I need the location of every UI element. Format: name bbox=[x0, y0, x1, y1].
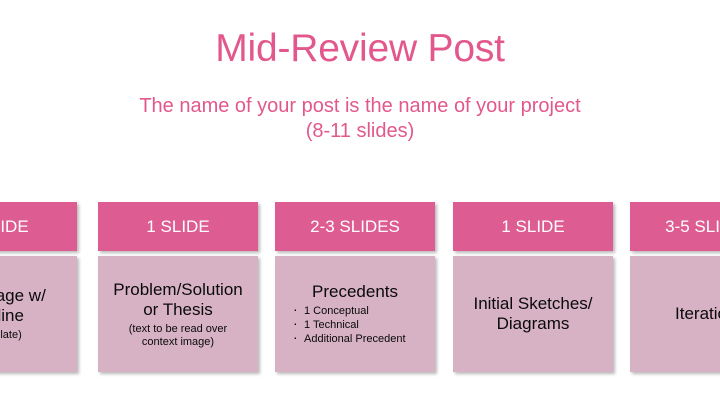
slide-card-heading: Initial Sketches/ Diagrams bbox=[459, 294, 607, 334]
slide-card-iterations: 3-5 SLIDES Iterations bbox=[630, 202, 720, 372]
slide-card-note: (template) bbox=[0, 329, 71, 342]
list-item: 1 Conceptual bbox=[291, 304, 429, 318]
list-item: Additional Precedent bbox=[291, 332, 429, 346]
slide-card-heading: Problem/Solution or Thesis bbox=[104, 280, 252, 320]
slide-card-heading: Title Page w/ Outline bbox=[0, 286, 71, 326]
slide-card-body: Precedents 1 Conceptual 1 Technical Addi… bbox=[275, 256, 435, 372]
slide-card-body: Title Page w/ Outline (template) bbox=[0, 256, 77, 372]
slide-count-badge: 2-3 SLIDES bbox=[275, 202, 435, 251]
slide-card-problem-solution: 1 SLIDE Problem/Solution or Thesis (text… bbox=[98, 202, 258, 372]
slide-card-precedents: 2-3 SLIDES Precedents 1 Conceptual 1 Tec… bbox=[275, 202, 435, 372]
slide-card-body: Iterations bbox=[630, 256, 720, 372]
list-item: 1 Technical bbox=[291, 318, 429, 332]
slide-card-note: (text to be read over context image) bbox=[104, 323, 252, 349]
slide-breakdown-cards: 1 SLIDE Title Page w/ Outline (template)… bbox=[0, 0, 720, 405]
slide-count-badge: 1 SLIDE bbox=[98, 202, 258, 251]
slide-card-body: Problem/Solution or Thesis (text to be r… bbox=[98, 256, 258, 372]
slide-card-title-page: 1 SLIDE Title Page w/ Outline (template) bbox=[0, 202, 77, 372]
slide-count-badge: 1 SLIDE bbox=[453, 202, 613, 251]
slide-count-badge: 3-5 SLIDES bbox=[630, 202, 720, 251]
precedent-bullet-list: 1 Conceptual 1 Technical Additional Prec… bbox=[281, 304, 429, 346]
slide-card-heading: Iterations bbox=[636, 304, 720, 324]
slide-card-initial-sketches: 1 SLIDE Initial Sketches/ Diagrams bbox=[453, 202, 613, 372]
slide-card-body: Initial Sketches/ Diagrams bbox=[453, 256, 613, 372]
slide-count-badge: 1 SLIDE bbox=[0, 202, 77, 251]
slide-card-heading: Precedents bbox=[281, 282, 429, 302]
